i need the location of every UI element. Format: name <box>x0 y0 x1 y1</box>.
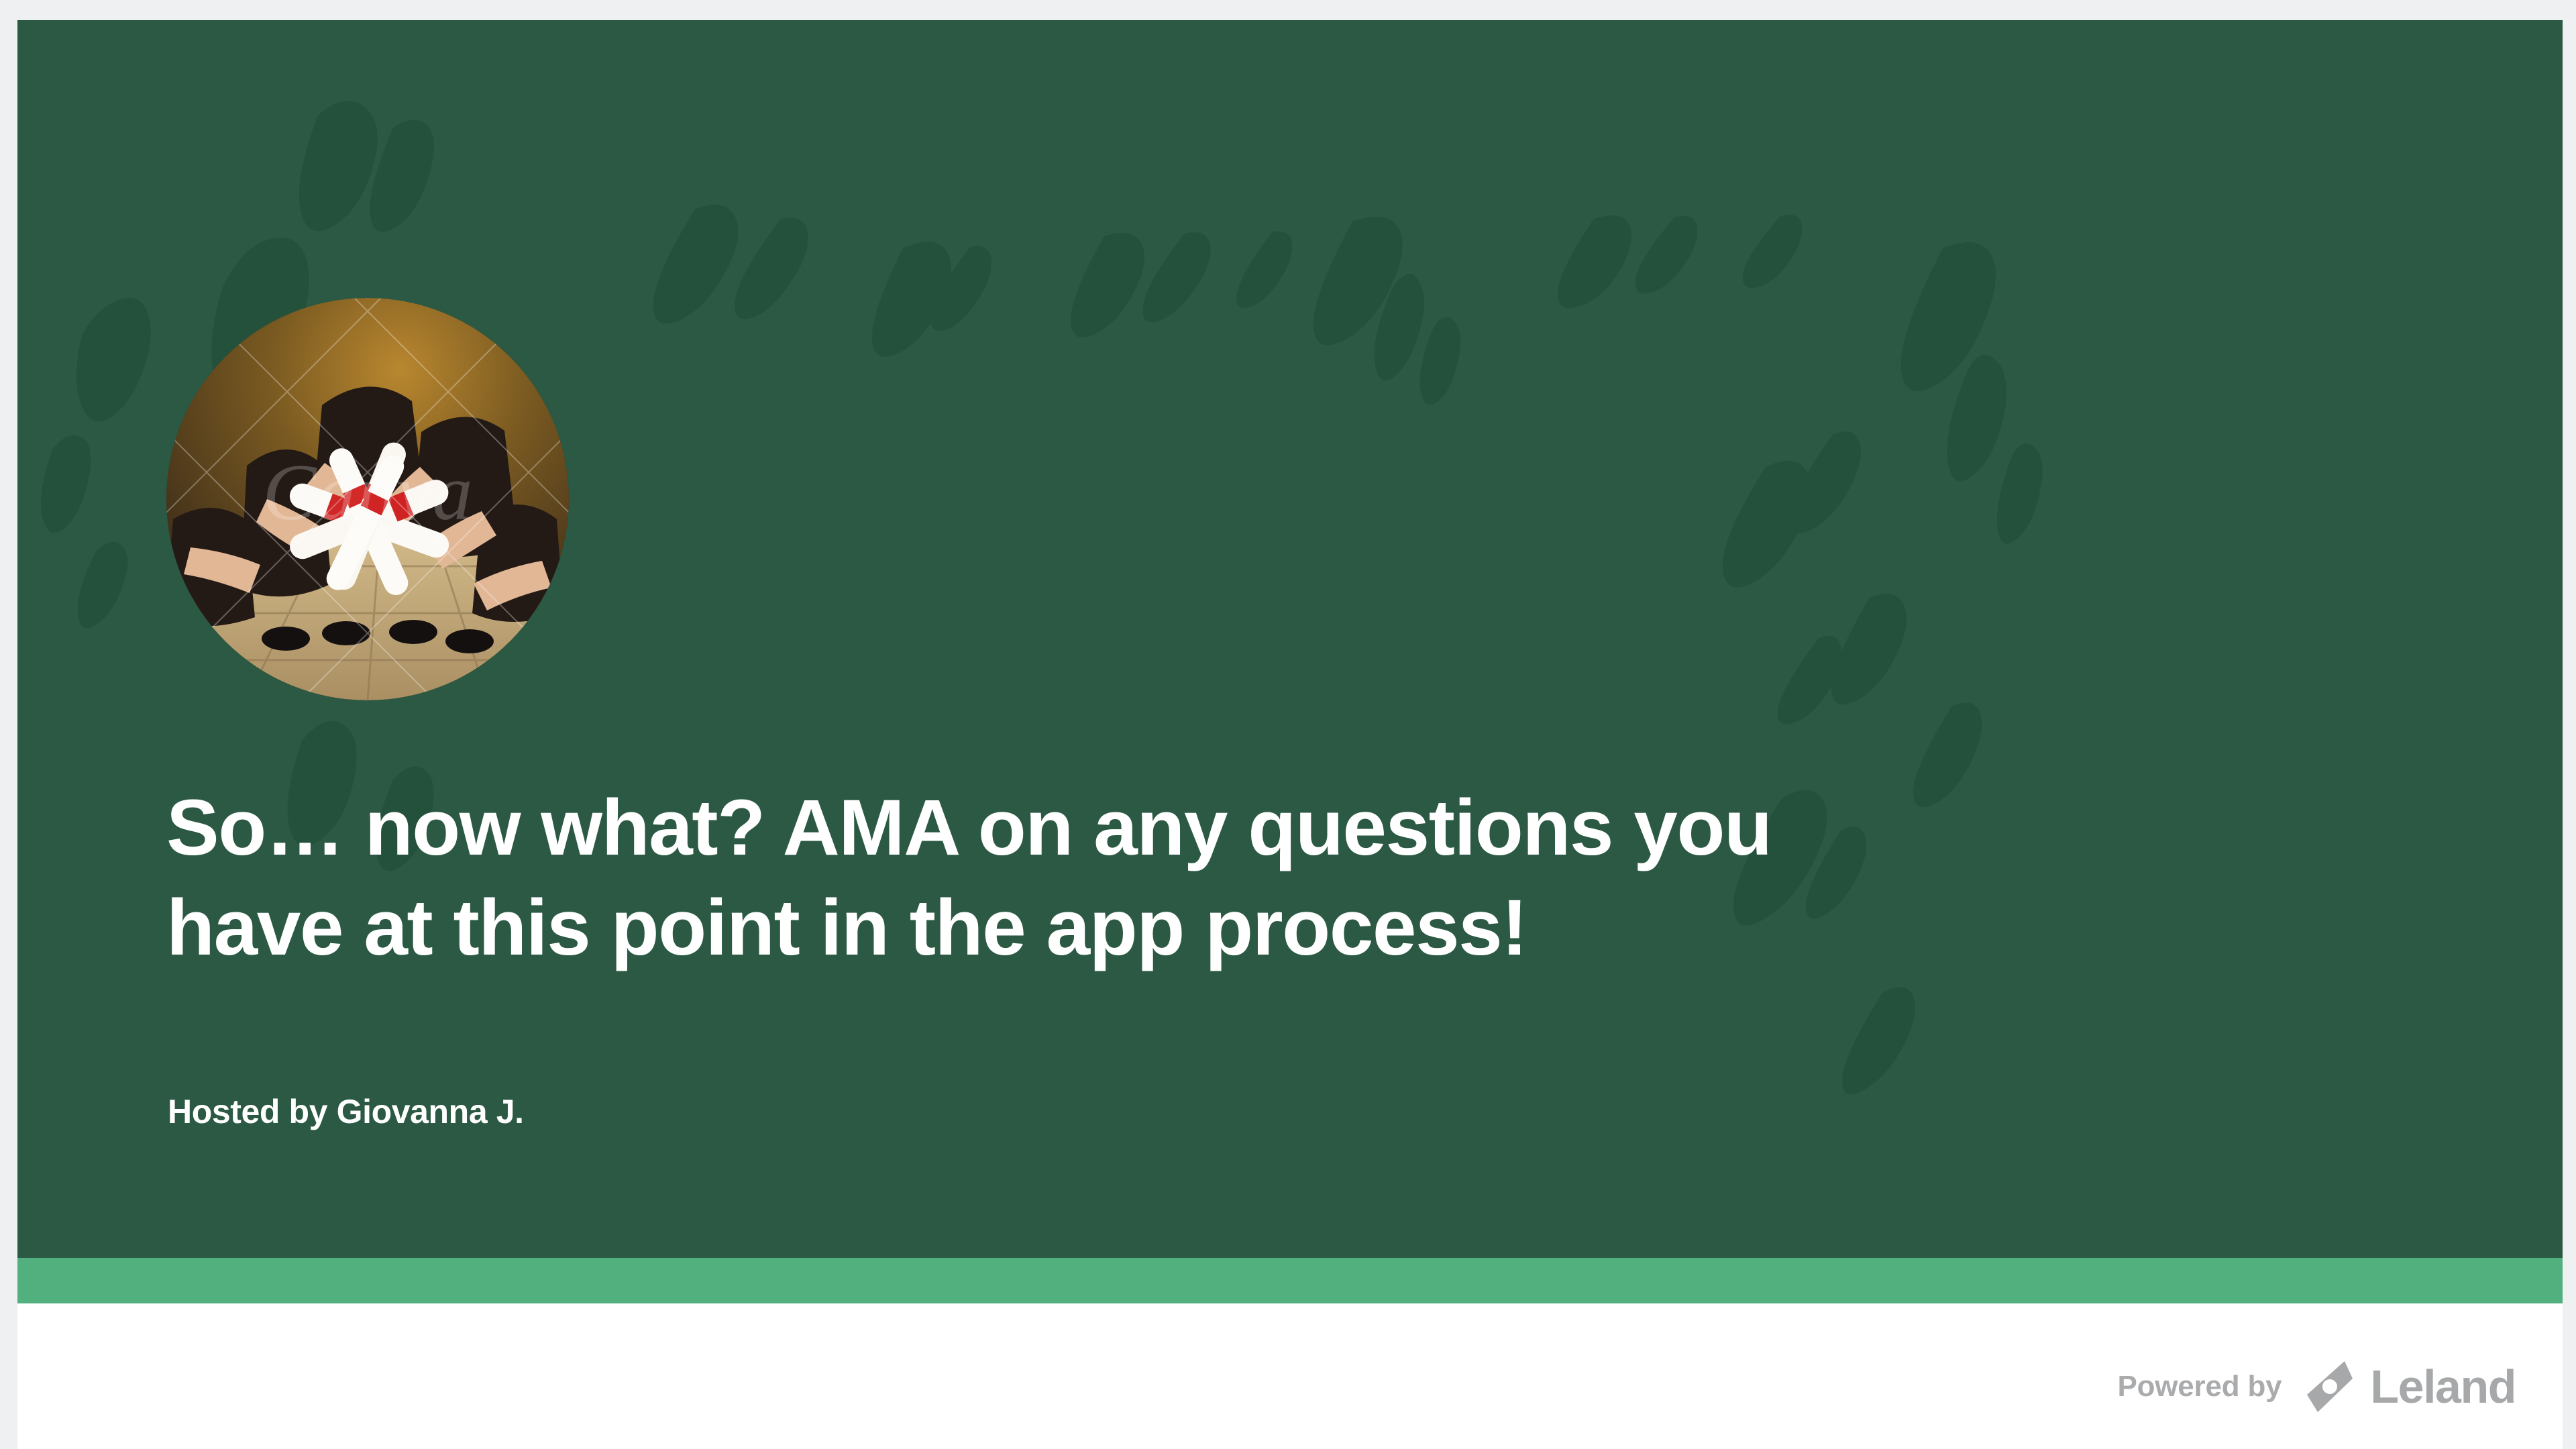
leland-leaf-icon <box>2304 1358 2355 1415</box>
svg-text:Canva: Canva <box>262 447 472 537</box>
avatar: Canva <box>166 298 569 700</box>
powered-by-label: Powered by <box>2117 1370 2282 1403</box>
powered-by-leland[interactable]: Powered by Leland <box>2117 1358 2516 1415</box>
leland-wordmark: Leland <box>2370 1363 2516 1410</box>
hero-banner: Canva So… now what? AMA on any questions… <box>17 20 2563 1258</box>
leland-logo[interactable]: Leland <box>2304 1358 2516 1415</box>
event-card: Canva So… now what? AMA on any questions… <box>17 20 2563 1449</box>
page-root: Canva So… now what? AMA on any questions… <box>0 0 2576 1449</box>
footer: Powered by Leland <box>17 1303 2563 1449</box>
page-title: So… now what? AMA on any questions you h… <box>166 778 2380 977</box>
accent-bar <box>17 1258 2563 1303</box>
host-label: Hosted by Giovanna J. <box>168 1092 524 1131</box>
